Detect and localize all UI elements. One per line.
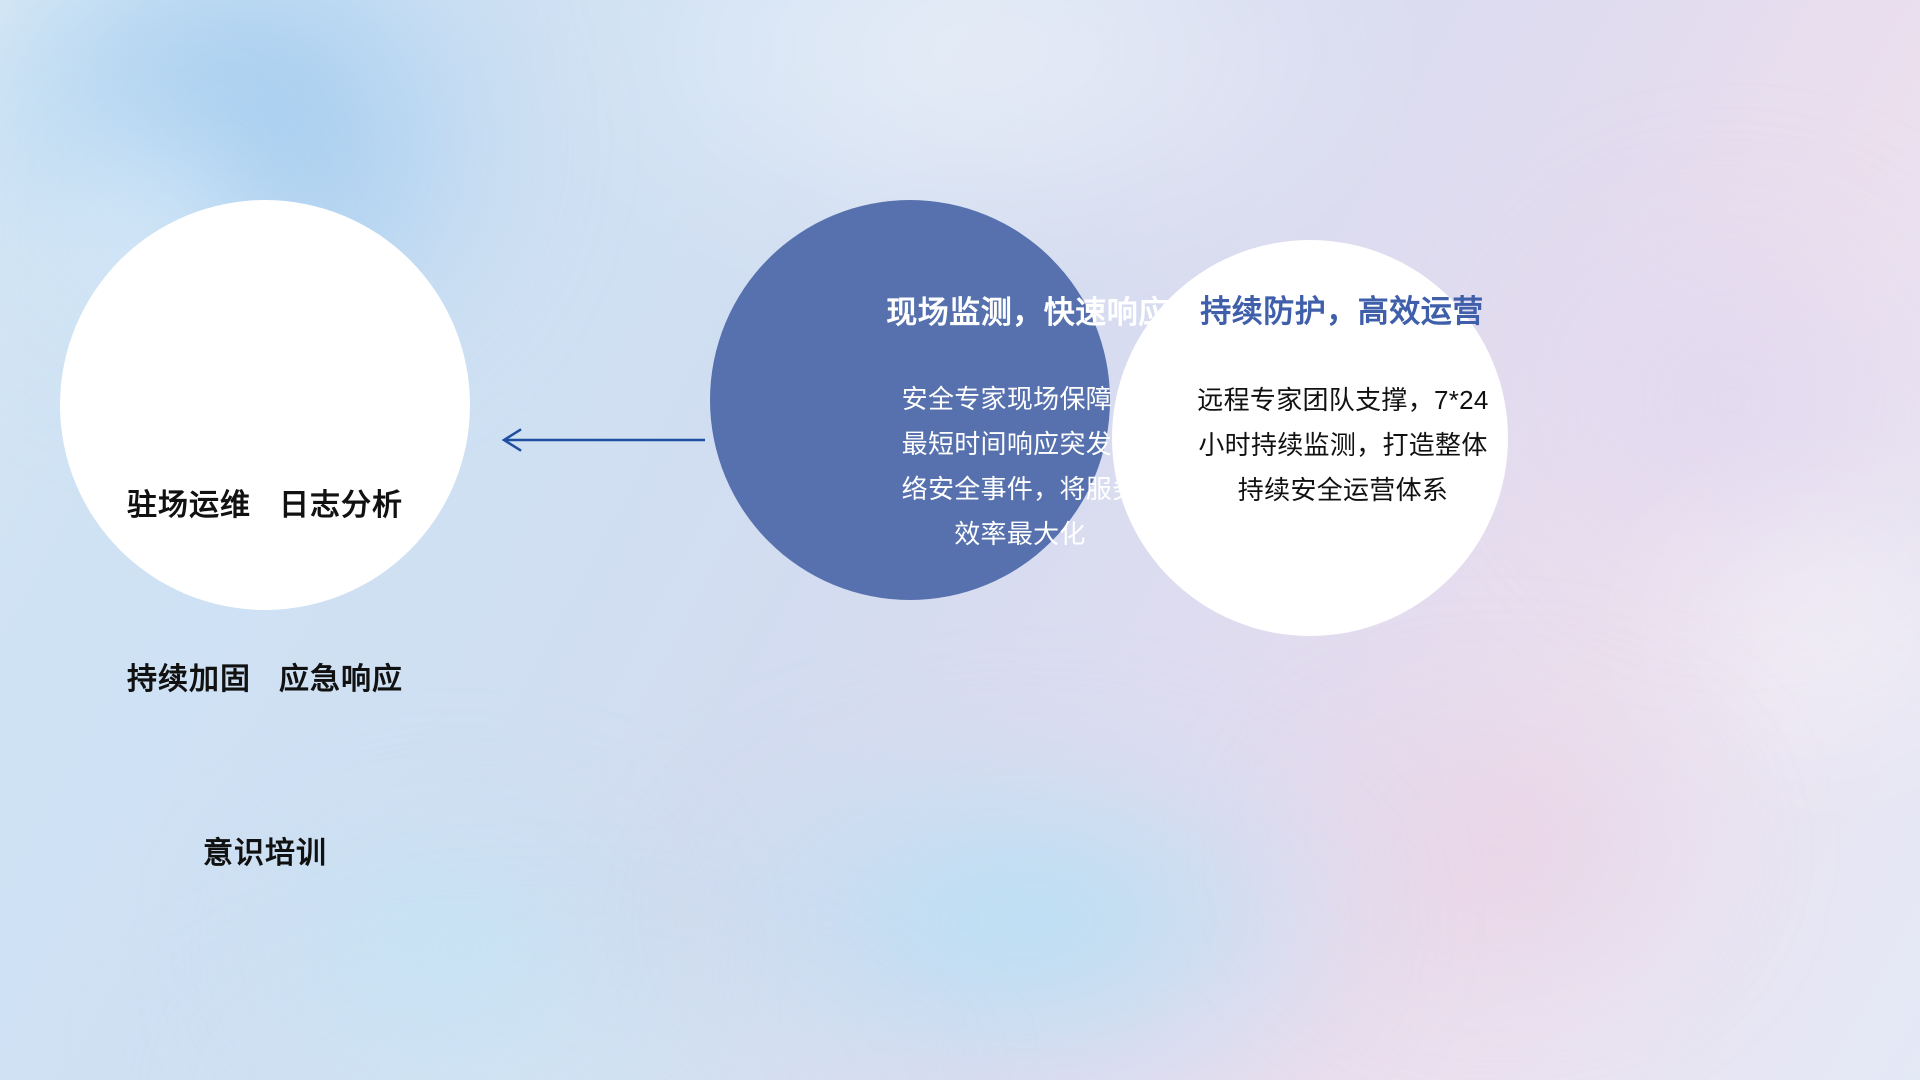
continuous-protection-title: 持续防护，高效运营	[1144, 292, 1540, 332]
capability-list: 驻场运维 日志分析 持续加固 应急响应 意识培训	[127, 361, 403, 999]
capability-circle-content: 驻场运维 日志分析 持续加固 应急响应 意识培训	[60, 200, 470, 610]
protection-body-line-3: 持续安全运营体系	[1163, 468, 1523, 513]
continuous-protection-body: 远程专家团队支撑，7*24 小时持续监测，打造整体 持续安全运营体系	[1163, 378, 1523, 513]
left-pointing-arrow	[490, 424, 710, 456]
protection-body-line-1: 远程专家团队支撑，7*24	[1163, 378, 1523, 423]
slide-canvas: 驻场运维 日志分析 持续加固 应急响应 意识培训 现场监测，快速响应 安全专家现…	[0, 0, 1920, 1080]
onsite-monitoring-content: 现场监测，快速响应 安全专家现场保障， 最短时间响应突发网 络安全事件，将服务 …	[710, 200, 1110, 600]
protection-body-line-2: 小时持续监测，打造整体	[1163, 423, 1523, 468]
capability-line-3: 意识培训	[127, 825, 403, 883]
capability-line-2: 持续加固 应急响应	[127, 651, 403, 709]
capability-line-1: 驻场运维 日志分析	[127, 477, 403, 535]
continuous-protection-content: 持续防护，高效运营 远程专家团队支撑，7*24 小时持续监测，打造整体 持续安全…	[1112, 240, 1508, 636]
